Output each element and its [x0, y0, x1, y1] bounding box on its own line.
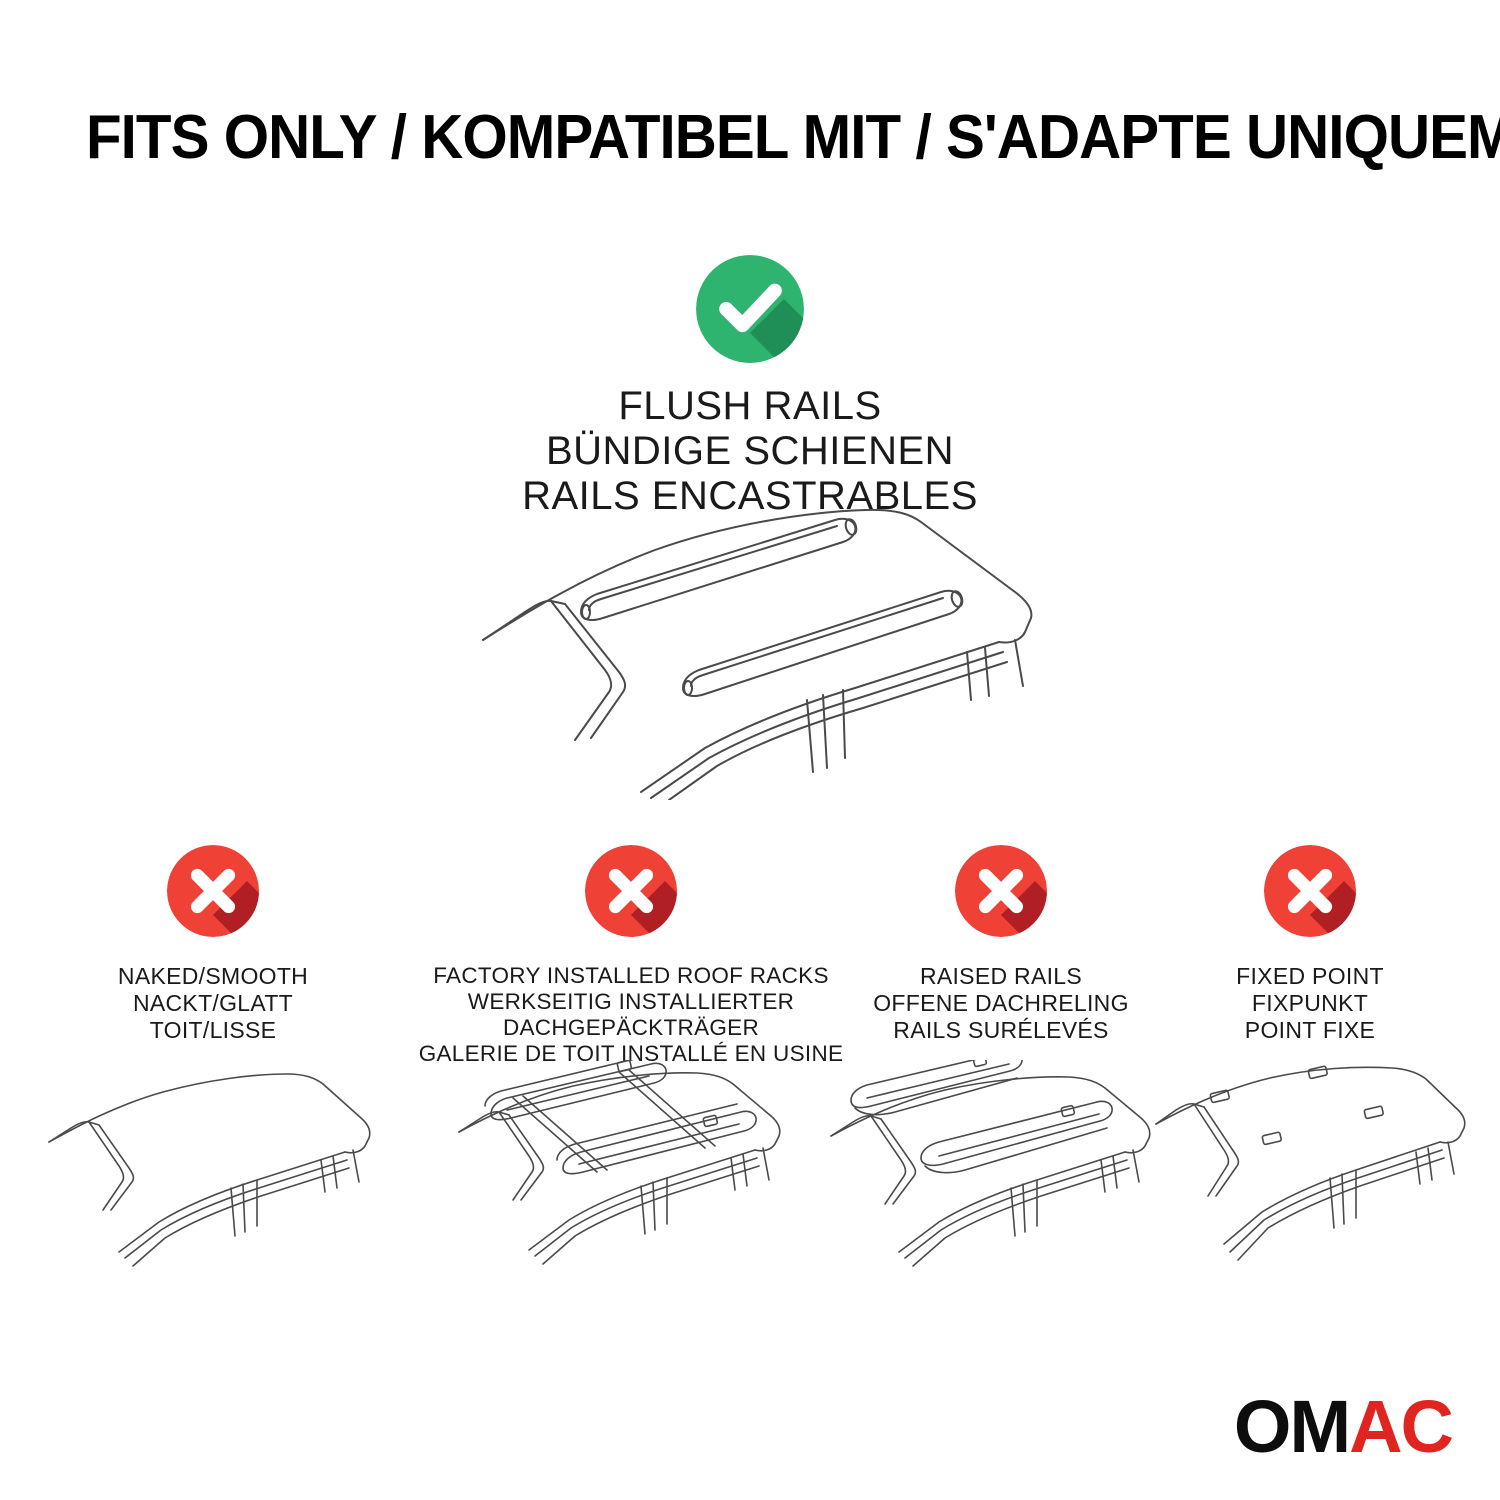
- incompatible-label-en: NAKED/SMOOTH: [58, 963, 368, 990]
- incompatible-label-fr: POINT FIXE: [1185, 1017, 1435, 1044]
- incompatible-label-de-2: DACHGEPÄCKTRÄGER: [400, 1015, 862, 1041]
- incompatible-labels: NAKED/SMOOTH NACKT/GLATT TOIT/LISSE: [58, 963, 368, 1044]
- compatible-labels: FLUSH RAILS BÜNDIGE SCHIENEN RAILS ENCAS…: [0, 384, 1500, 519]
- car-roof-factory-racks-illustration: [451, 1060, 811, 1275]
- incompatible-label-fr: RAILS SURÉLEVÉS: [846, 1017, 1156, 1044]
- incompatible-label-de: FIXPUNKT: [1185, 990, 1435, 1017]
- incompatible-label-en: FACTORY INSTALLED ROOF RACKS: [400, 963, 862, 989]
- incompatible-labels: FACTORY INSTALLED ROOF RACKS WERKSEITIG …: [400, 963, 862, 1067]
- cross-circle-icon: [955, 845, 1047, 937]
- incompatible-item-naked-smooth: NAKED/SMOOTH NACKT/GLATT TOIT/LISSE: [58, 845, 368, 1044]
- incompatible-item-factory-racks: FACTORY INSTALLED ROOF RACKS WERKSEITIG …: [400, 845, 862, 1067]
- compatible-label-de: BÜNDIGE SCHIENEN: [0, 429, 1500, 474]
- car-roof-fixed-point-illustration: [1150, 1060, 1470, 1275]
- incompatible-item-raised-rails: RAISED RAILS OFFENE DACHRELING RAILS SUR…: [846, 845, 1156, 1044]
- incompatible-labels: RAISED RAILS OFFENE DACHRELING RAILS SUR…: [846, 963, 1156, 1044]
- logo-text-black: OM: [1234, 1385, 1349, 1468]
- cross-circle-icon: [167, 845, 259, 937]
- incompatible-label-de: OFFENE DACHRELING: [846, 990, 1156, 1017]
- incompatible-label-en: RAISED RAILS: [846, 963, 1156, 990]
- cross-circle-icon: [1264, 845, 1356, 937]
- car-roof-raised-rails-illustration: [821, 1060, 1181, 1275]
- compatible-section: FLUSH RAILS BÜNDIGE SCHIENEN RAILS ENCAS…: [0, 255, 1500, 519]
- incompatible-section: NAKED/SMOOTH NACKT/GLATT TOIT/LISSE: [0, 845, 1500, 1305]
- page-title: FITS ONLY / KOMPATIBEL MIT / S'ADAPTE UN…: [86, 104, 1346, 172]
- omac-logo: OMAC: [1234, 1390, 1452, 1464]
- cross-circle-icon: [585, 845, 677, 937]
- car-roof-flush-rails-illustration: [455, 500, 1075, 800]
- incompatible-labels: FIXED POINT FIXPUNKT POINT FIXE: [1185, 963, 1435, 1044]
- incompatible-item-fixed-point: FIXED POINT FIXPUNKT POINT FIXE: [1185, 845, 1435, 1044]
- logo-text-red: AC: [1349, 1385, 1452, 1468]
- incompatible-label-de-1: WERKSEITIG INSTALLIERTER: [400, 989, 862, 1015]
- compatibility-infographic: FITS ONLY / KOMPATIBEL MIT / S'ADAPTE UN…: [0, 0, 1500, 1500]
- incompatible-label-de: NACKT/GLATT: [58, 990, 368, 1017]
- check-circle-icon: [696, 255, 804, 363]
- compatible-label-en: FLUSH RAILS: [0, 384, 1500, 429]
- car-roof-naked-smooth-illustration: [43, 1060, 383, 1275]
- incompatible-label-en: FIXED POINT: [1185, 963, 1435, 990]
- incompatible-label-fr: TOIT/LISSE: [58, 1017, 368, 1044]
